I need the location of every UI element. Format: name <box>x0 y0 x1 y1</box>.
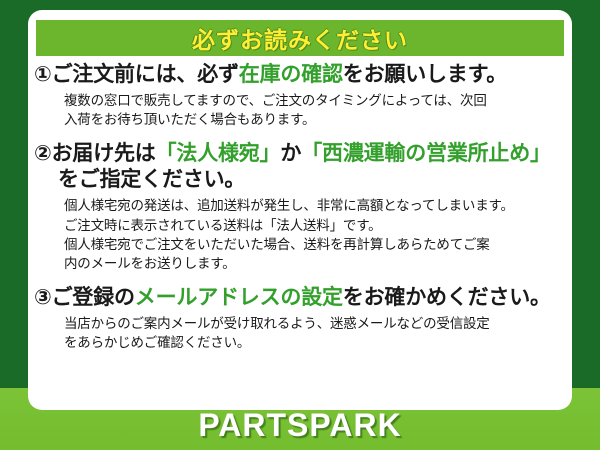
item-2-heading-part-3: か <box>280 142 301 165</box>
item-2-marker: ② <box>34 142 52 165</box>
item-3-heading-part-3: をお確かめください。 <box>343 286 551 309</box>
header-banner: 必ずお読みください <box>36 20 564 56</box>
footer-logo: PARTSPARK <box>0 407 600 444</box>
item-3-heading-highlight: メールアドレスの設定 <box>135 286 343 309</box>
item-3-heading: ③ご登録のメールアドレスの設定をお確かめください。 <box>34 285 566 311</box>
item-2-heading-highlight-1: 「法人様宛」 <box>156 142 281 165</box>
notice-root: 必ずお読みください ①ご注文前には、必ず在庫の確認をお願いします。 複数の窓口で… <box>0 0 600 450</box>
item-3-heading-part-1: ご登録の <box>52 286 135 309</box>
item-1-heading: ①ご注文前には、必ず在庫の確認をお願いします。 <box>34 62 566 88</box>
item-1-body-line-1: 複数の窓口で販売してますので、ご注文のタイミングによっては、次回 <box>34 91 566 110</box>
item-2-body-line-2: ご注文時に表示されている送料は「法人送料」です。 <box>34 216 566 235</box>
notice-item-2: ②お届け先は「法人様宛」か「西濃運輸の営業所止め」 をご指定ください。 個人様宅… <box>34 141 566 273</box>
notice-body: ①ご注文前には、必ず在庫の確認をお願いします。 複数の窓口で販売してますので、ご… <box>28 56 572 352</box>
item-2-heading-part-1: お届け先は <box>52 142 156 165</box>
item-1-heading-highlight: 在庫の確認 <box>239 63 343 86</box>
item-2-heading: ②お届け先は「法人様宛」か「西濃運輸の営業所止め」 <box>34 141 566 167</box>
item-2-body-line-4: 内のメールをお送りします。 <box>34 254 566 273</box>
item-1-heading-part-1: ご注文前には、必ず <box>52 63 239 86</box>
item-1-heading-part-3: をお願いします。 <box>343 63 507 86</box>
item-3-body-line-2: をあらかじめご確認ください。 <box>34 333 566 352</box>
page-title: 必ずお読みください <box>192 21 408 55</box>
notice-item-1: ①ご注文前には、必ず在庫の確認をお願いします。 複数の窓口で販売してますので、ご… <box>34 62 566 129</box>
item-1-marker: ① <box>34 63 52 86</box>
item-2-heading-line-2: をご指定ください。 <box>34 167 566 193</box>
item-2-body-line-1: 個人様宅宛の発送は、追加送料が発生し、非常に高額となってしまいます。 <box>34 196 566 215</box>
item-3-body-line-1: 当店からのご案内メールが受け取れるよう、迷惑メールなどの受信設定 <box>34 314 566 333</box>
item-2-heading-highlight-2: 「西濃運輸の営業所止め」 <box>301 142 551 165</box>
item-2-body-line-3: 個人様宅宛でご注文をいただいた場合、送料を再計算しあらためてご案 <box>34 235 566 254</box>
item-1-body-line-2: 入荷をお待ち頂いただく場合もあります。 <box>34 110 566 129</box>
notice-card: 必ずお読みください ①ご注文前には、必ず在庫の確認をお願いします。 複数の窓口で… <box>28 10 572 410</box>
item-3-marker: ③ <box>34 286 52 309</box>
notice-item-3: ③ご登録のメールアドレスの設定をお確かめください。 当店からのご案内メールが受け… <box>34 285 566 352</box>
brand-logo-text: PARTSPARK <box>198 407 401 444</box>
